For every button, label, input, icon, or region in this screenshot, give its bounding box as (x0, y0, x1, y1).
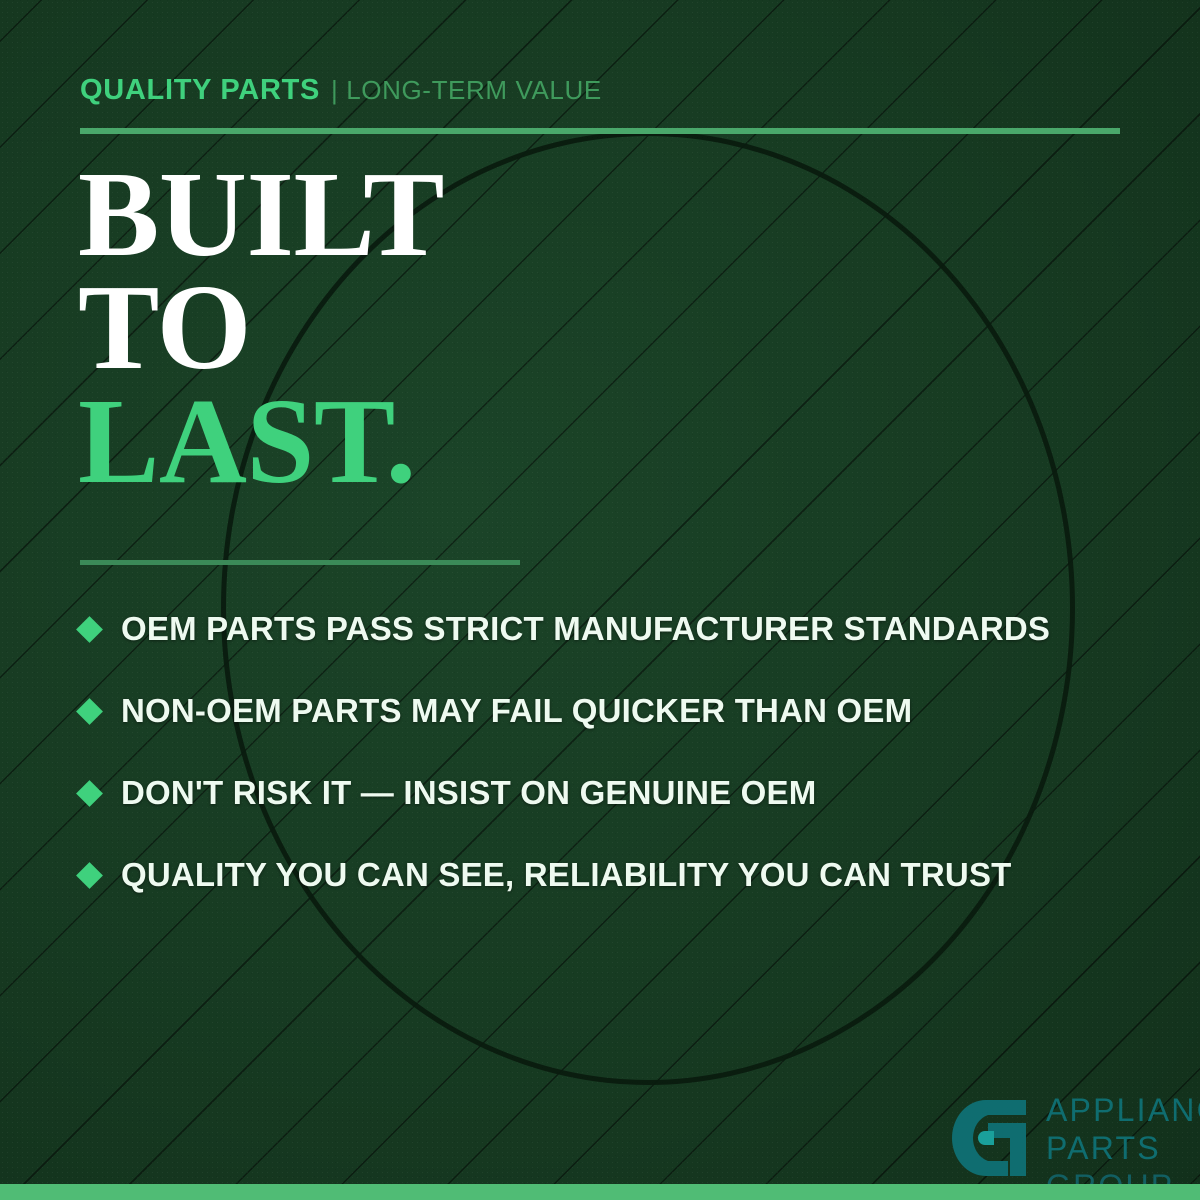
list-item-label: NON-OEM PARTS MAY FAIL QUICKER THAN OEM (121, 692, 912, 730)
eyebrow-sub-label: | LONG-TERM VALUE (331, 75, 602, 106)
headline: BUILT TO LAST. (78, 158, 444, 498)
headline-line-2: TO (78, 271, 444, 384)
eyebrow-main-label: QUALITY PARTS (80, 74, 320, 107)
list-item: DON'T RISK IT — INSIST ON GENUINE OEM (80, 752, 1170, 834)
headline-line-1: BUILT (78, 158, 444, 271)
diamond-bullet-icon (76, 616, 103, 643)
list-item: OEM PARTS PASS STRICT MANUFACTURER STAND… (80, 588, 1170, 670)
headline-line-3: LAST. (78, 385, 444, 498)
list-item: QUALITY YOU CAN SEE, RELIABILITY YOU CAN… (80, 834, 1170, 916)
benefit-list: OEM PARTS PASS STRICT MANUFACTURER STAND… (80, 588, 1170, 916)
diamond-bullet-icon (76, 698, 103, 725)
list-item: NON-OEM PARTS MAY FAIL QUICKER THAN OEM (80, 670, 1170, 752)
g-monogram-icon (948, 1096, 1032, 1180)
poster-content: QUALITY PARTS | LONG-TERM VALUE BUILT TO… (0, 0, 1200, 1200)
list-item-label: OEM PARTS PASS STRICT MANUFACTURER STAND… (121, 610, 1050, 648)
headline-divider (80, 560, 520, 565)
brand-logo-line-1: APPLIANCE (1046, 1094, 1200, 1126)
bottom-accent-bar (0, 1184, 1200, 1200)
header-divider (80, 128, 1120, 134)
list-item-label: QUALITY YOU CAN SEE, RELIABILITY YOU CAN… (121, 856, 1012, 894)
eyebrow: QUALITY PARTS | LONG-TERM VALUE (80, 74, 602, 107)
brand-logo-line-2: PARTS (1046, 1132, 1200, 1164)
promo-poster: QUALITY PARTS | LONG-TERM VALUE BUILT TO… (0, 0, 1200, 1200)
diamond-bullet-icon (76, 780, 103, 807)
list-item-label: DON'T RISK IT — INSIST ON GENUINE OEM (121, 774, 816, 812)
diamond-bullet-icon (76, 862, 103, 889)
